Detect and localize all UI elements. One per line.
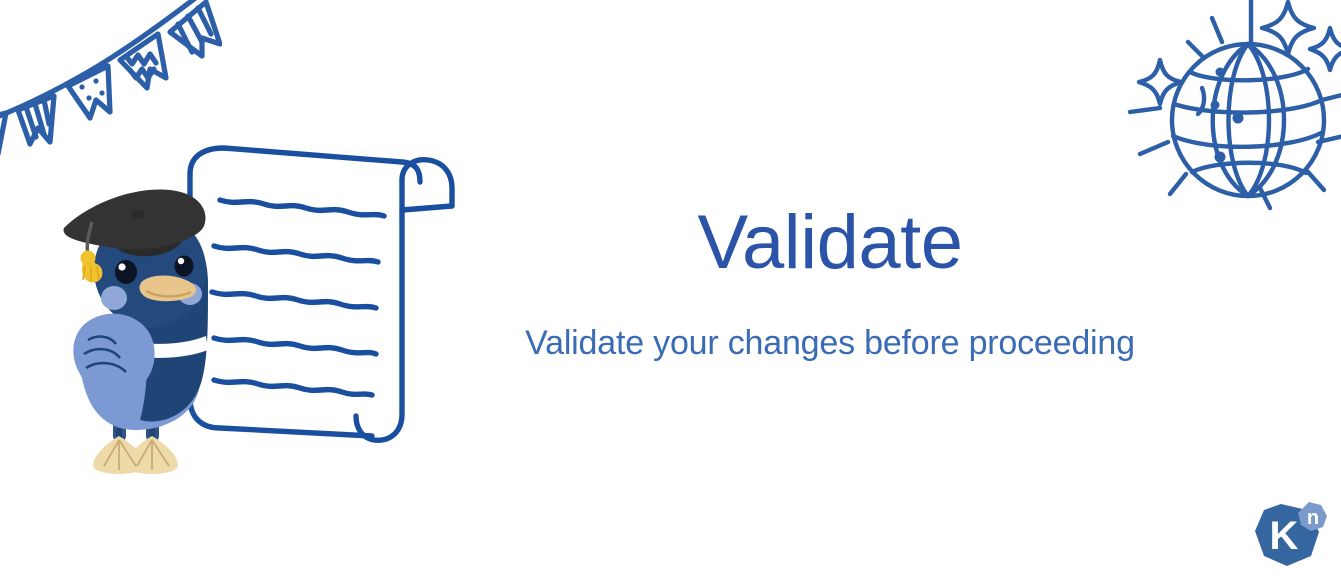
bird-cheek-right <box>178 283 202 305</box>
graduation-cap <box>64 189 206 282</box>
slide-canvas: Validate Validate your changes before pr… <box>0 0 1341 585</box>
disco-ball-icon <box>1118 0 1341 231</box>
page-subtitle: Validate your changes before proceeding <box>470 281 1190 364</box>
bird-eye-left <box>115 260 137 284</box>
graduate-bird-icon <box>58 188 236 478</box>
page-title: Validate <box>470 205 1190 281</box>
bird-wing <box>73 314 154 396</box>
headline-block: Validate Validate your changes before pr… <box>470 205 1190 364</box>
bird-collar <box>106 332 208 358</box>
brand-logo[interactable]: K n <box>1247 496 1331 576</box>
bird-beak <box>140 276 197 302</box>
bird-body-dark <box>96 214 208 422</box>
bunting-icon <box>0 0 222 184</box>
bird-wing-lines <box>84 337 126 372</box>
bird-legs <box>113 400 159 444</box>
logo-letter-n: n <box>1307 507 1319 529</box>
bird-mascot <box>58 188 236 478</box>
logo-letter-k: K <box>1270 514 1299 558</box>
bird-head <box>94 212 206 328</box>
bird-feet <box>93 436 178 474</box>
bird-eye-right <box>175 256 194 277</box>
discoball-decoration <box>1118 0 1341 231</box>
scroll-illustration <box>176 136 466 456</box>
bird-belly <box>80 321 200 430</box>
scroll-icon <box>176 136 466 456</box>
brand-logo-icon: K n <box>1247 496 1331 576</box>
bird-cheek-left <box>101 286 127 310</box>
bunting-decoration <box>0 0 222 184</box>
